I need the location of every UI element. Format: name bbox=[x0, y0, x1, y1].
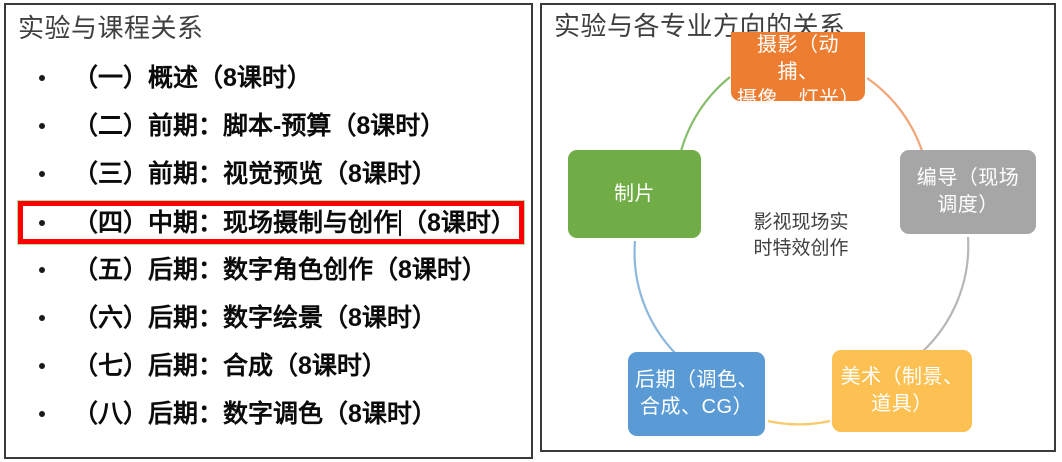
list-item-label-tail: （8课时） bbox=[402, 208, 516, 238]
bullet-icon bbox=[39, 315, 45, 321]
node-director[interactable]: 编导（现场 调度） bbox=[900, 150, 1036, 234]
list-item-label: （七）后期：合成（8课时） bbox=[73, 351, 387, 381]
arc-post-producer bbox=[635, 241, 675, 353]
bullet-icon bbox=[39, 123, 45, 129]
node-producer-label: 制片 bbox=[614, 181, 655, 208]
bullet-icon bbox=[39, 75, 45, 81]
list-item-label: （三）前期：视觉预览（8课时） bbox=[73, 159, 437, 189]
node-photography[interactable]: 摄影（动捕、 摄像、灯光） bbox=[731, 32, 865, 101]
list-item-label: （五）后期：数字角色创作（8课时） bbox=[73, 255, 487, 285]
cycle-diagram: 实验与各专业方向的关系 摄影（动捕、 摄像、灯光） 编导（现场 调度） 美术（制… bbox=[540, 3, 1056, 452]
list-item[interactable]: （八）后期：数字调色（8课时） bbox=[6, 390, 535, 438]
list-item-label: （六）后期：数字绘景（8课时） bbox=[73, 303, 437, 333]
course-list: （一）概述（8课时） （二）前期：脚本-预算（8课时） （三）前期：视觉预览（8… bbox=[6, 54, 535, 438]
arc-art-post bbox=[768, 421, 830, 424]
highlight-text-clip: （四）中期：现场摄制与创作 （8课时） bbox=[23, 206, 519, 239]
node-photography-label: 摄影（动捕、 摄像、灯光） bbox=[737, 32, 859, 101]
bullet-icon bbox=[39, 267, 45, 273]
list-item[interactable]: （七）后期：合成（8课时） bbox=[6, 342, 535, 390]
list-item[interactable]: （二）前期：脚本-预算（8课时） bbox=[6, 102, 535, 150]
list-item-label: （二）前期：脚本-预算（8课时） bbox=[73, 111, 445, 141]
node-director-label: 编导（现场 调度） bbox=[917, 165, 1020, 219]
list-item[interactable]: （一）概述（8课时） bbox=[6, 54, 535, 102]
node-post[interactable]: 后期（调色、 合成、CG） bbox=[628, 352, 765, 436]
node-art[interactable]: 美术（制景、 道具） bbox=[832, 350, 972, 432]
list-item[interactable]: （五）后期：数字角色创作（8课时） bbox=[6, 246, 535, 294]
text-cursor bbox=[399, 210, 401, 236]
bullet-icon bbox=[39, 363, 45, 369]
node-producer[interactable]: 制片 bbox=[568, 150, 701, 238]
list-item-label: （一）概述（8课时） bbox=[73, 63, 312, 93]
slide-canvas: 实验与课程关系 （一）概述（8课时） （二）前期：脚本-预算（8课时） （三）前… bbox=[0, 0, 1062, 462]
node-art-label: 美术（制景、 道具） bbox=[841, 364, 964, 418]
arc-producer-photography bbox=[680, 77, 730, 155]
bullet-icon bbox=[39, 411, 45, 417]
list-item[interactable]: （三）前期：视觉预览（8课时） bbox=[6, 150, 535, 198]
list-item-label: （四）中期：现场摄制与创作 bbox=[73, 208, 398, 238]
list-item-label: （八）后期：数字调色（8课时） bbox=[73, 399, 437, 429]
arc-director-art bbox=[922, 237, 968, 352]
bullet-icon bbox=[39, 171, 45, 177]
list-item-highlighted[interactable]: （四）中期：现场摄制与创作 （8课时） bbox=[6, 198, 535, 246]
list-item[interactable]: （六）后期：数字绘景（8课时） bbox=[6, 294, 535, 342]
left-panel: 实验与课程关系 （一）概述（8课时） （二）前期：脚本-预算（8课时） （三）前… bbox=[4, 3, 533, 459]
diagram-center-label: 影视现场实 时特效创作 bbox=[726, 210, 876, 262]
arc-photography-director bbox=[867, 78, 923, 154]
bullet-icon bbox=[39, 220, 45, 226]
node-post-label: 后期（调色、 合成、CG） bbox=[635, 367, 758, 421]
left-panel-title: 实验与课程关系 bbox=[18, 13, 204, 43]
